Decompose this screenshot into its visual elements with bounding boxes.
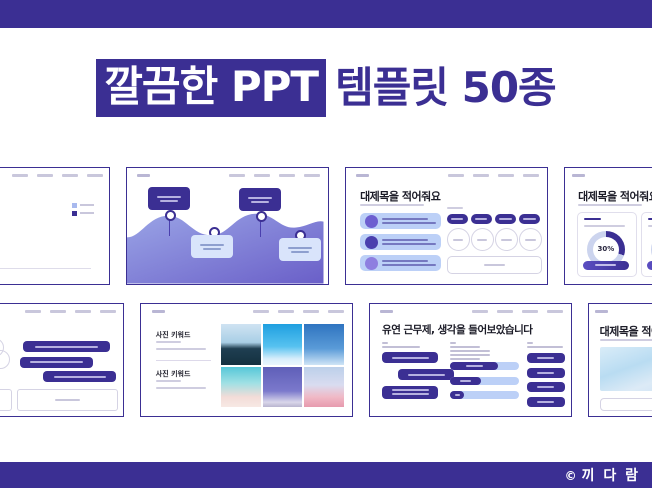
slide-nav-items (12, 174, 103, 177)
speech-bubble[interactable] (398, 369, 454, 380)
photo-grid (221, 324, 343, 407)
photo-caption (156, 387, 207, 389)
donut-button[interactable] (583, 261, 630, 270)
slide-logo-icon (380, 310, 393, 313)
person-card[interactable] (360, 255, 441, 271)
slide-nav-items (472, 310, 563, 313)
top-accent-bar (0, 0, 652, 28)
thumbnail-row-1: 대제목을 적어줘요 대제목을 (0, 167, 652, 285)
nav-item (75, 310, 91, 313)
chart-bars (0, 207, 91, 267)
slide-thumbnail-bar-chart[interactable] (0, 167, 110, 285)
photo-tile[interactable] (263, 324, 302, 364)
category-pill[interactable] (519, 214, 540, 223)
slide-nav (0, 174, 103, 177)
category-circle[interactable] (519, 228, 542, 251)
nav-item (522, 310, 538, 313)
copyright-icon: © (565, 469, 579, 483)
nav-item (25, 310, 41, 313)
slide-nav (0, 310, 116, 313)
photo-tile[interactable] (304, 367, 343, 407)
nav-item (498, 174, 514, 177)
nav-item (254, 174, 270, 177)
slide-nav (152, 310, 344, 313)
speech-bubble[interactable] (382, 386, 438, 399)
slide-subtitle (578, 204, 642, 206)
headline-plain: 템플릿 50종 (326, 67, 556, 109)
nav-item (278, 310, 294, 313)
slide-title: 유연 근무제, 생각을 들어보았습니다 (382, 322, 532, 337)
option-pill[interactable] (527, 397, 565, 407)
slide-logo-icon (595, 310, 608, 313)
option-pill[interactable] (527, 353, 565, 363)
slide-nav (595, 310, 652, 313)
nav-item (12, 174, 28, 177)
speech-bubble[interactable] (43, 371, 116, 382)
timeline-callout[interactable] (191, 235, 233, 258)
caption-box[interactable] (600, 398, 652, 411)
footer-brand-name: 끼 다 람 (582, 468, 640, 484)
progress-track (450, 391, 518, 399)
nav-item (473, 174, 489, 177)
nav-item (37, 174, 53, 177)
slide-nav (380, 310, 563, 313)
nav-item (303, 310, 319, 313)
speech-bubble[interactable] (23, 341, 109, 352)
timeline-callout[interactable] (279, 238, 321, 261)
photo-tile[interactable] (221, 367, 260, 407)
nav-item (328, 310, 344, 313)
page-title: 깔끔한 PPT 템플릿 50종 (0, 55, 652, 120)
donut-label (648, 218, 652, 220)
timeline-callout[interactable] (239, 188, 281, 211)
nav-item (253, 310, 269, 313)
person-card[interactable] (360, 213, 441, 229)
divider (156, 360, 211, 361)
slide-image[interactable] (600, 347, 652, 392)
slide-nav (356, 174, 539, 177)
nav-item (100, 310, 116, 313)
person-card[interactable] (360, 234, 441, 250)
slide-thumbnail-people-cards[interactable]: 대제목을 적어줘요 (345, 167, 548, 285)
speech-bubble[interactable] (20, 357, 93, 368)
photo-caption (156, 341, 181, 343)
slide-subtitle (600, 339, 652, 341)
slide-nav-items (448, 174, 539, 177)
donut-caption (648, 225, 652, 227)
category-circle[interactable] (471, 228, 494, 251)
progress-fill (450, 377, 481, 385)
slide-title: 대제목을 적어줘요 (360, 188, 440, 204)
slide-thumbnail-donuts[interactable]: 대제목을 적어줘요 30% 55% (564, 167, 652, 285)
donut-label (584, 218, 602, 220)
category-circle[interactable] (495, 228, 518, 251)
person-card-text (382, 260, 436, 266)
nav-item (547, 310, 563, 313)
option-pill[interactable] (527, 368, 565, 378)
slide-logo-icon (137, 174, 150, 177)
timeline-callout[interactable] (148, 187, 190, 210)
headline-highlight: 깔끔한 PPT (96, 59, 326, 117)
nav-item (62, 174, 78, 177)
category-pill[interactable] (447, 214, 468, 223)
progress-track (450, 377, 518, 385)
person-card-text (382, 218, 436, 224)
donut-value: 30% (593, 237, 619, 262)
footer-brand: ©끼 다 람 (565, 465, 652, 485)
slide-logo-icon (152, 310, 165, 313)
timeline-marker[interactable] (256, 211, 267, 222)
category-pill[interactable] (495, 214, 516, 223)
progress-fill (450, 362, 498, 370)
chart-axis (0, 268, 91, 269)
nav-item (229, 174, 245, 177)
slide-nav-items (25, 310, 116, 313)
nav-item (87, 174, 103, 177)
note-box[interactable] (0, 389, 12, 411)
note-box[interactable] (17, 389, 119, 411)
donut-caption (584, 225, 625, 227)
nav-item (523, 174, 539, 177)
donut-button[interactable] (647, 261, 652, 270)
thumbnail-row-2: 사진 키워드 사진 키워드 유연 근무제, 생각을 들어보았습니다 (0, 303, 652, 417)
venn-diagram (0, 338, 7, 370)
footer-bar: ©끼 다 람 (0, 462, 652, 488)
column-caption (382, 342, 420, 348)
column-caption (450, 342, 490, 360)
slide-thumbnail-survey[interactable]: 유연 근무제, 생각을 들어보았습니다 (369, 303, 572, 417)
slide-thumbnail-photo-grid[interactable]: 사진 키워드 사진 키워드 (140, 303, 353, 417)
slide-thumbnail-image-text[interactable]: 대제목을 적어 (588, 303, 652, 417)
slide-nav (137, 174, 320, 177)
timeline-marker[interactable] (165, 210, 176, 221)
photo-tile[interactable] (304, 324, 343, 364)
slide-thumbnail-venn-bubbles[interactable] (0, 303, 124, 417)
nav-item (304, 174, 320, 177)
nav-item (279, 174, 295, 177)
progress-fill (450, 391, 464, 399)
slide-nav-items (253, 310, 344, 313)
speech-bubble[interactable] (382, 352, 438, 363)
avatar (365, 257, 378, 270)
avatar (365, 236, 378, 249)
slide-thumbnail-wave-timeline[interactable] (126, 167, 329, 285)
option-pill[interactable] (527, 382, 565, 392)
photo-keyword-label: 사진 키워드 (156, 330, 191, 340)
nav-item (50, 310, 66, 313)
photo-tile[interactable] (263, 367, 302, 407)
slide-nav (572, 174, 652, 177)
photo-keyword-label: 사진 키워드 (156, 369, 191, 379)
avatar (365, 215, 378, 228)
slide-title: 대제목을 적어 (600, 323, 652, 339)
photo-caption (156, 348, 207, 350)
summary-box[interactable] (447, 256, 542, 274)
photo-caption (156, 380, 181, 382)
photo-tile[interactable] (221, 324, 260, 364)
column-caption (527, 342, 563, 348)
slide-logo-icon (572, 174, 585, 177)
nav-item (448, 174, 464, 177)
progress-track (450, 362, 518, 370)
slide-logo-icon (356, 174, 369, 177)
slide-title: 대제목을 적어줘요 (578, 188, 652, 204)
slide-subtitle (360, 204, 424, 206)
section-label (447, 207, 463, 209)
slide-nav-items (229, 174, 320, 177)
nav-item (472, 310, 488, 313)
category-circle[interactable] (447, 228, 470, 251)
person-card-text (382, 239, 436, 245)
category-pill[interactable] (471, 214, 492, 223)
nav-item (497, 310, 513, 313)
